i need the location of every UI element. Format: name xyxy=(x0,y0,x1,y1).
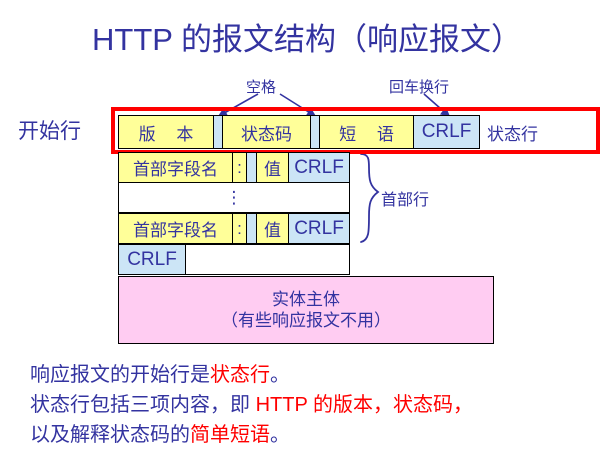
cell-header-field-name-1: 首部字段名 xyxy=(118,152,233,183)
cell-header-colon-2: : xyxy=(232,213,247,244)
explanation-line-2-part-a: 状态行包括三项内容，即 xyxy=(30,394,256,416)
explanation-paragraph: 响应报文的开始行是状态行。 状态行包括三项内容，即 HTTP 的版本，状态码， … xyxy=(30,360,614,450)
explanation-line-1: 响应报文的开始行是状态行。 xyxy=(30,360,614,390)
row-ellipsis: ⋮ xyxy=(118,182,350,213)
annotation-start-line-label: 开始行 xyxy=(18,115,81,145)
explanation-line-1-part-a: 响应报文的开始行是 xyxy=(30,364,210,386)
start-line-highlight-box xyxy=(111,107,600,154)
cell-entity-body: 实体主体 （有些响应报文不用） xyxy=(118,276,494,344)
explanation-line-2: 状态行包括三项内容，即 HTTP 的版本，状态码， xyxy=(30,390,614,420)
cell-header-value-1: 值 xyxy=(256,152,289,183)
cell-header-value-2: 值 xyxy=(256,213,289,244)
ellipsis-glyph: ⋮ xyxy=(226,195,243,200)
row-blank-line-remainder xyxy=(185,244,350,275)
explanation-line-1-highlight: 状态行 xyxy=(210,364,270,386)
entity-body-line-2: （有些响应报文不用） xyxy=(221,310,391,331)
brace-header-lines xyxy=(361,154,378,242)
explanation-line-3-part-a: 以及解释状态码的 xyxy=(30,424,190,446)
diagram-canvas: HTTP 的报文结构（响应报文） 空格 回车换行 开始行 状态行 首部行 版 本… xyxy=(0,0,614,471)
annotation-space-label: 空格 xyxy=(246,76,276,97)
annotation-header-lines-label: 首部行 xyxy=(381,186,429,210)
explanation-line-2-highlight: HTTP 的版本，状态码， xyxy=(256,394,473,416)
cell-crlf-blank-line: CRLF xyxy=(118,244,186,275)
annotation-crlf-label: 回车换行 xyxy=(389,76,449,97)
cell-crlf-header-1: CRLF xyxy=(288,152,350,183)
cell-crlf-header-2: CRLF xyxy=(288,213,350,244)
explanation-line-3: 以及解释状态码的简单短语。 xyxy=(30,420,614,450)
cell-header-colon-1: : xyxy=(232,152,247,183)
explanation-line-1-part-c: 。 xyxy=(270,364,290,386)
page-title: HTTP 的报文结构（响应报文） xyxy=(0,14,614,59)
cell-header-field-name-2: 首部字段名 xyxy=(118,213,233,244)
entity-body-line-1: 实体主体 xyxy=(272,289,340,310)
explanation-line-3-part-c: 。 xyxy=(270,424,290,446)
explanation-line-3-highlight: 简单短语 xyxy=(190,424,270,446)
